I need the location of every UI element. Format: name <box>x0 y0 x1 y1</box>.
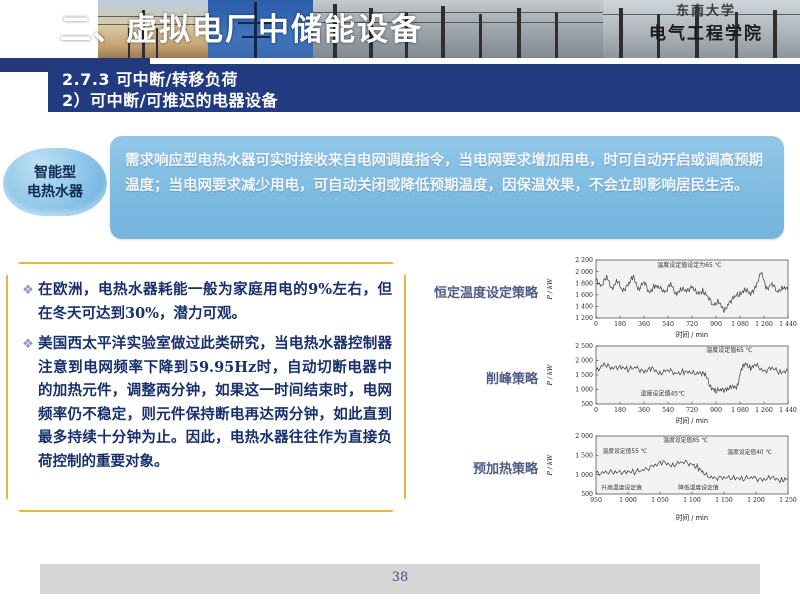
chart-3-svg: 5001 0001 5002 000 9501 0001 0501 1001 1… <box>540 432 798 524</box>
svg-text:温度设定值45℃: 温度设定值45℃ <box>640 389 685 397</box>
svg-text:1 500: 1 500 <box>575 453 593 460</box>
badge-line-1: 智能型 <box>3 164 107 183</box>
svg-text:P / kW: P / kW <box>546 364 554 386</box>
page-number: 38 <box>0 570 800 585</box>
svg-text:P / kW: P / kW <box>546 454 554 476</box>
svg-text:180: 180 <box>614 407 626 414</box>
subtitle-bar: 2.7.3 可中断/转移负荷 2）可中断/可推迟的电器设备 <box>48 64 800 112</box>
slide-canvas: 二、虚拟电厂中储能设备 东南大学 电气工程学院 2.7.3 可中断/转移负荷 2… <box>0 0 800 600</box>
svg-text:720: 720 <box>686 321 698 328</box>
svg-text:2 000: 2 000 <box>575 269 593 276</box>
chart-row-constant-temp: 恒定温度设定策略 1 2001 4001 6001 8002 0002 200 … <box>410 256 800 341</box>
university-seal-text: 东南大学 <box>622 2 790 22</box>
bullet-diamond-icon: ❖ <box>18 332 38 355</box>
callout-text: 需求响应型电热水器可实时接收来自电网调度指令，当电网要求增加用电，时可自动开启或… <box>125 148 772 198</box>
svg-text:时间 / min: 时间 / min <box>676 330 708 339</box>
svg-text:1 080: 1 080 <box>731 321 749 328</box>
svg-text:1 000: 1 000 <box>575 387 593 394</box>
svg-text:P / kW: P / kW <box>546 278 554 300</box>
chart-label-3: 预加热策略 <box>416 458 538 477</box>
chart-row-peak-shaving: 削峰策略 5001 0001 5002 0002 500 01803605407… <box>410 342 800 427</box>
svg-text:900: 900 <box>710 407 722 414</box>
svg-text:1 400: 1 400 <box>575 304 593 311</box>
svg-text:1 600: 1 600 <box>575 292 593 299</box>
svg-text:2 000: 2 000 <box>575 433 593 440</box>
svg-text:2 000: 2 000 <box>575 358 593 365</box>
svg-text:时间 / min: 时间 / min <box>676 416 708 425</box>
footer-gap <box>0 530 800 564</box>
school-name: 电气工程学院 <box>622 22 790 46</box>
subtitle-line-2: 2）可中断/可推迟的电器设备 <box>62 87 278 111</box>
svg-text:1 150: 1 150 <box>715 497 733 504</box>
svg-text:1 200: 1 200 <box>575 315 593 322</box>
bullet-text-2: 美国西太平洋实验室做过此类研究，当电热水器控制器注意到电网频率下降到59.95H… <box>38 332 392 473</box>
svg-text:360: 360 <box>638 321 650 328</box>
smart-water-heater-badge: 智能型 电热水器 <box>3 148 107 216</box>
svg-text:1 050: 1 050 <box>651 497 669 504</box>
svg-text:1 100: 1 100 <box>683 497 701 504</box>
svg-text:900: 900 <box>710 321 722 328</box>
svg-text:升高温度设定值: 升高温度设定值 <box>601 484 642 492</box>
svg-text:360: 360 <box>638 407 650 414</box>
svg-text:温度设定值设定为65 ℃: 温度设定值设定为65 ℃ <box>657 261 722 269</box>
chart-column: 恒定温度设定策略 1 2001 4001 6001 8002 0002 200 … <box>410 256 800 526</box>
chart-2-svg: 5001 0001 5002 0002 500 0180360540720900… <box>540 342 798 427</box>
svg-text:时间 / min: 时间 / min <box>676 513 708 522</box>
svg-text:1 260: 1 260 <box>755 407 773 414</box>
chart-label-1: 恒定温度设定策略 <box>416 282 538 301</box>
svg-text:180: 180 <box>614 321 626 328</box>
svg-text:1 200: 1 200 <box>747 497 765 504</box>
svg-text:1 260: 1 260 <box>755 321 773 328</box>
chart-1-svg: 1 2001 4001 6001 8002 0002 200 018036054… <box>540 256 798 341</box>
svg-text:1 440: 1 440 <box>779 407 797 414</box>
svg-text:540: 540 <box>662 321 674 328</box>
svg-text:1 250: 1 250 <box>779 497 797 504</box>
svg-text:1 440: 1 440 <box>779 321 797 328</box>
svg-text:1 800: 1 800 <box>575 280 593 287</box>
chart-label-2: 削峰策略 <box>416 368 538 387</box>
list-item: ❖ 美国西太平洋实验室做过此类研究，当电热水器控制器注意到电网频率下降到59.9… <box>18 332 392 473</box>
svg-text:540: 540 <box>662 407 674 414</box>
svg-text:降低温度设定值: 降低温度设定值 <box>678 484 719 492</box>
list-item: ❖ 在欧洲，电热水器耗能一般为家庭用电的9%左右，但在冬天可达到30%，潜力可观… <box>18 278 392 325</box>
bullet-box: ❖ 在欧洲，电热水器耗能一般为家庭用电的9%左右，但在冬天可达到30%，潜力可观… <box>6 262 406 512</box>
svg-text:0: 0 <box>594 407 598 414</box>
chart-constant-temperature: 1 2001 4001 6001 8002 0002 200 018036054… <box>540 256 798 341</box>
page-title: 二、虚拟电厂中储能设备 <box>60 4 620 56</box>
svg-text:1 500: 1 500 <box>575 372 593 379</box>
chart-preheating: 5001 0001 5002 000 9501 0001 0501 1001 1… <box>540 432 798 517</box>
bullet-diamond-icon: ❖ <box>18 278 38 301</box>
svg-text:温度设定值40 ℃: 温度设定值40 ℃ <box>727 448 772 456</box>
description-callout: 需求响应型电热水器可实时接收来自电网调度指令，当电网要求增加用电，时可自动开启或… <box>110 136 784 239</box>
svg-text:温度设定值65 ℃: 温度设定值65 ℃ <box>706 346 753 354</box>
badge-line-2: 电热水器 <box>3 183 107 202</box>
chart-row-preheat: 预加热策略 5001 0001 5002 000 9501 0001 0501 … <box>410 432 800 517</box>
svg-text:950: 950 <box>590 497 602 504</box>
chart-peak-shaving: 5001 0001 5002 0002 500 0180360540720900… <box>540 342 798 427</box>
svg-text:温度设定值55 ℃: 温度设定值55 ℃ <box>602 447 647 455</box>
svg-text:500: 500 <box>581 401 593 408</box>
svg-text:1 000: 1 000 <box>619 497 637 504</box>
svg-text:1 000: 1 000 <box>575 472 593 479</box>
bullet-text-1: 在欧洲，电热水器耗能一般为家庭用电的9%左右，但在冬天可达到30%，潜力可观。 <box>38 278 392 325</box>
svg-text:温度设定值85 ℃: 温度设定值85 ℃ <box>663 436 708 444</box>
svg-text:0: 0 <box>594 321 598 328</box>
svg-text:2 200: 2 200 <box>575 257 593 264</box>
svg-text:1 080: 1 080 <box>731 407 749 414</box>
svg-text:2 500: 2 500 <box>575 343 593 350</box>
svg-text:720: 720 <box>686 407 698 414</box>
university-logo: 东南大学 电气工程学院 <box>622 2 790 58</box>
